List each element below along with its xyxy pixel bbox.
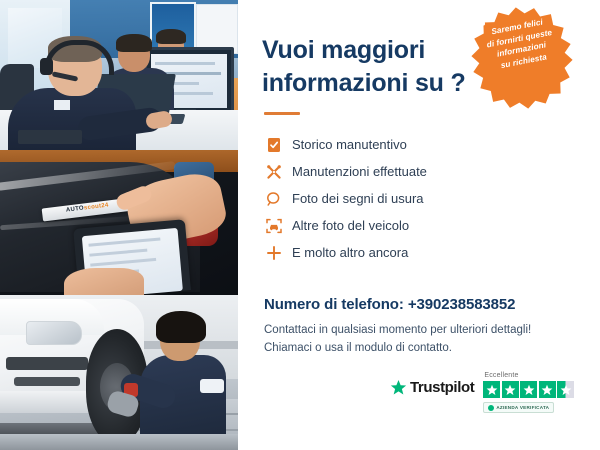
page-title: Vuoi maggiori informazioni su ? [262, 34, 472, 99]
star-box [483, 381, 500, 398]
colleague-back-hair-decor [156, 29, 186, 44]
agent-name-badge-decor [54, 100, 70, 110]
headlight-decor [26, 321, 82, 345]
photo-call-centre [0, 0, 238, 150]
list-item: Storico manutentivo [262, 131, 600, 158]
trustpilot-logo: Trustpilot [390, 379, 474, 396]
callout-badge: Saremo felici di fornirti queste informa… [463, 0, 581, 117]
list-item-label: Manutenzioni effettuate [292, 164, 427, 179]
trustpilot-rating[interactable]: Trustpilot Eccellente AZIENDA VERIFICATA [390, 372, 574, 413]
photo-car-inspection: AUTOscout24 [0, 150, 238, 295]
feature-list: Storico manutentivo Manutenzioni effettu… [262, 131, 600, 266]
content-panel: Vuoi maggiori informazioni su ? Storico … [238, 0, 600, 450]
verified-company-badge: AZIENDA VERIFICATA [483, 402, 554, 413]
trustpilot-rating-label: Eccellente [484, 372, 518, 379]
tablet-row-decor [90, 258, 156, 267]
star-box-half [557, 381, 574, 398]
grille-decor [6, 357, 88, 370]
contact-instructions: Contattaci in qualsiasi momento per ulte… [264, 322, 600, 358]
headset-icon [463, 9, 487, 29]
list-item-label: Altre foto del veicolo [292, 218, 409, 233]
contact-instructions-line2: Chiamaci o usa il modulo di contatto. [264, 340, 600, 358]
star-box [502, 381, 519, 398]
tablet-row-decor [89, 249, 147, 257]
ruler-brand-label: AUTOscout24 [66, 202, 109, 213]
list-item-label: E molto altro ancora [292, 245, 408, 260]
trustpilot-star-row [483, 381, 574, 398]
magnifier-icon [262, 191, 286, 207]
list-item: E molto altro ancora [262, 239, 600, 266]
star-box [520, 381, 537, 398]
verified-check-icon [488, 405, 494, 411]
list-item-label: Foto dei segni di usura [292, 191, 424, 206]
star-box [539, 381, 556, 398]
agent-keyboard-decor [18, 130, 82, 144]
checked-document-icon [262, 137, 286, 153]
inspector-hand-lower-decor [64, 268, 144, 295]
screen-row-decor [155, 62, 215, 65]
phone-number-line[interactable]: Numero di telefono: +390238583852 [264, 296, 600, 313]
tablet-row-decor [88, 237, 160, 246]
trustpilot-star-icon [390, 379, 407, 396]
badge-text: Saremo felici di fornirti queste informa… [483, 15, 557, 73]
trustpilot-wordmark: Trustpilot [410, 379, 474, 396]
list-item: Foto dei segni di usura [262, 185, 600, 212]
list-item: Manutenzioni effettuate [262, 158, 600, 185]
title-underline-divider [264, 112, 300, 115]
mechanic-hair-decor [156, 311, 206, 343]
list-item-label: Storico manutentivo [292, 137, 407, 152]
mechanic-logo-patch-decor [200, 379, 224, 393]
promo-card: AUTOscout24 [0, 0, 600, 450]
photo-mechanic-wheel [0, 295, 238, 450]
photo-column: AUTOscout24 [0, 0, 238, 450]
verified-company-label: AZIENDA VERIFICATA [496, 405, 549, 410]
trustpilot-score-block: Eccellente AZIENDA VERIFICATA [483, 372, 574, 413]
colleague-hair-decor [116, 34, 152, 52]
garage-floor-decor [0, 434, 238, 450]
plus-icon [262, 245, 286, 261]
wrench-screwdriver-icon [262, 164, 286, 180]
agent-headset-speaker-decor [40, 58, 53, 75]
lower-grille-decor [14, 377, 80, 386]
list-item: Altre foto del veicolo [262, 212, 600, 239]
car-frame-icon [262, 218, 286, 234]
contact-instructions-line1: Contattaci in qualsiasi momento per ulte… [264, 322, 600, 340]
